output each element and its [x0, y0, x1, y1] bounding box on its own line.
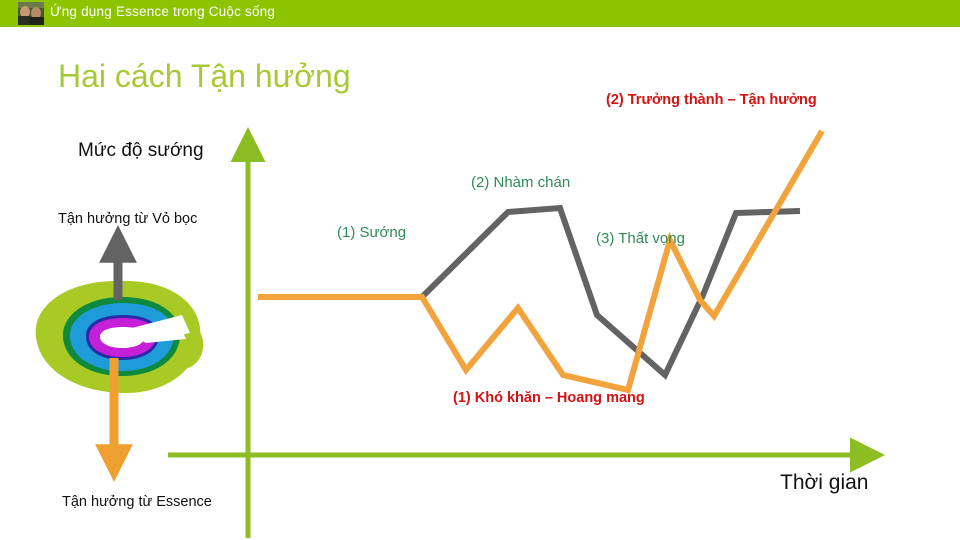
label-enjoy-from-essence: Tận hưởng từ Essence: [62, 494, 212, 510]
essence-onion-graphic: [30, 277, 205, 397]
slide-canvas: Ứng dụng Essence trong Cuộc sống Hai các…: [0, 0, 960, 540]
label-enjoy-from-shell: Tận hưởng từ Vỏ bọc: [58, 211, 197, 227]
annotation-nham-chan: (2) Nhàm chán: [471, 174, 570, 191]
y-axis-label: Mức độ sướng: [78, 140, 204, 162]
series-line-essence: [258, 131, 822, 390]
annotation-truong-thanh: (2) Trưởng thành – Tận hưởng: [606, 92, 817, 108]
header-bar: Ứng dụng Essence trong Cuộc sống: [0, 0, 960, 27]
annotation-kho-khan: (1) Khó khăn – Hoang mang: [453, 390, 645, 406]
header-title: Ứng dụng Essence trong Cuộc sống: [50, 4, 275, 19]
x-axis-label: Thời gian: [780, 471, 868, 495]
page-title: Hai cách Tận hưởng: [58, 58, 351, 95]
annotation-that-vong: (3) Thất vọng: [596, 230, 685, 247]
annotation-suong: (1) Sướng: [337, 224, 406, 241]
presenter-photo-icon: [18, 2, 44, 25]
